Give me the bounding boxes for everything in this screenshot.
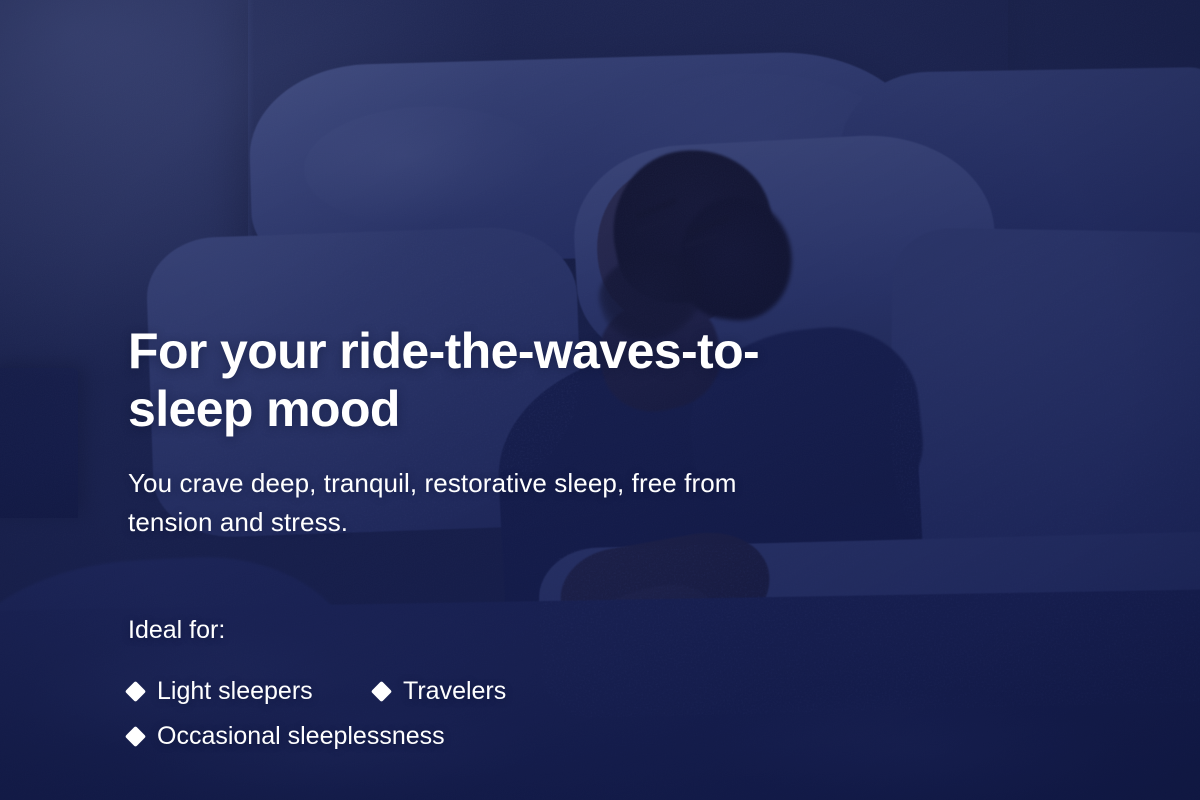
list-item-label: Travelers <box>403 674 506 708</box>
list-item: Travelers <box>374 674 634 708</box>
list-item-label: Light sleepers <box>157 674 313 708</box>
list-item: Occasional sleeplessness <box>128 719 688 753</box>
list-item-label: Occasional sleeplessness <box>157 719 445 753</box>
ideal-for-list: Light sleepers Travelers Occasional slee… <box>128 674 688 753</box>
page-title: For your ride-the-waves-to-sleep mood <box>128 322 808 438</box>
hero-copy: For your ride-the-waves-to-sleep mood Yo… <box>128 322 888 753</box>
hero-banner: For your ride-the-waves-to-sleep mood Yo… <box>0 0 1200 800</box>
hero-subtitle: You crave deep, tranquil, restorative sl… <box>128 464 748 542</box>
list-item: Light sleepers <box>128 674 374 708</box>
diamond-bullet-icon <box>125 725 146 746</box>
diamond-bullet-icon <box>125 680 146 701</box>
diamond-bullet-icon <box>371 680 392 701</box>
ideal-for-label: Ideal for: <box>128 614 888 646</box>
